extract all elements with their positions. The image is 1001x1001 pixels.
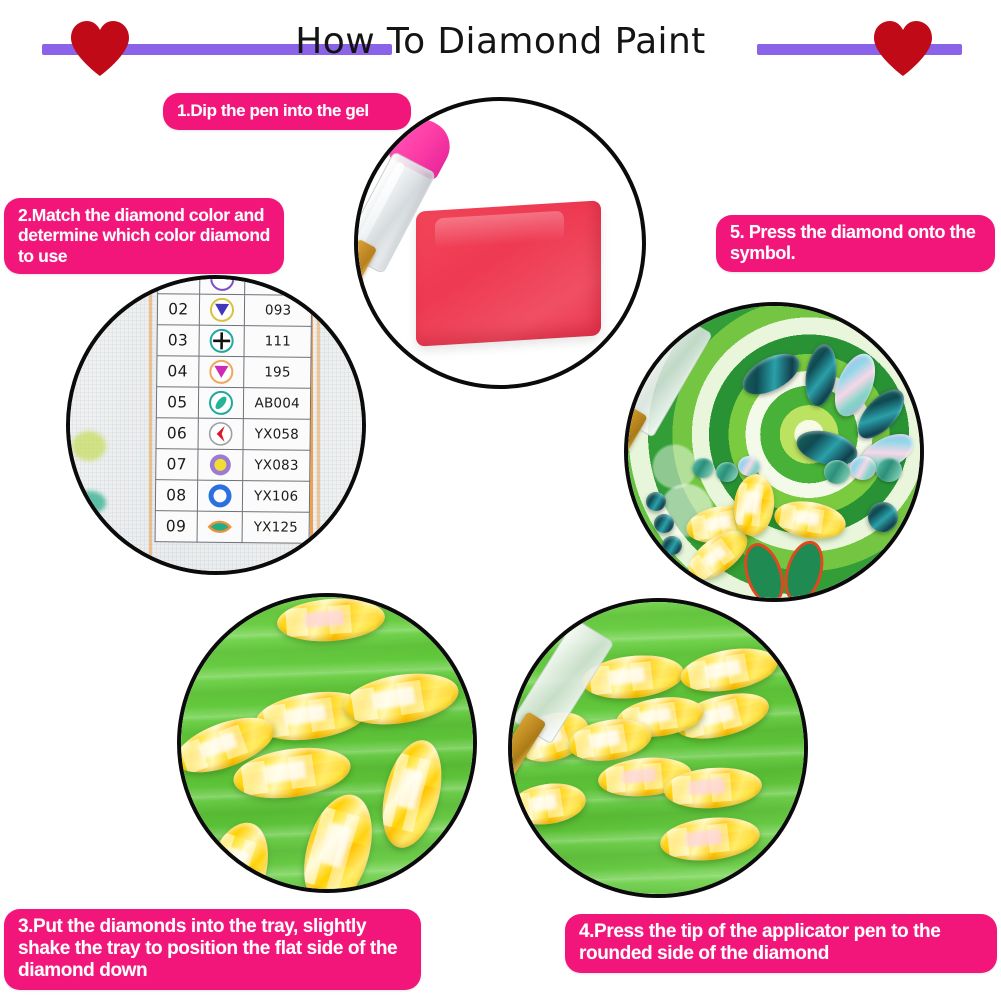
cell-symbol-leaf-green-orange: [197, 511, 243, 542]
table-row: 08 YX106: [155, 480, 309, 513]
photo-diamonds-in-tray: [181, 597, 473, 889]
cell-symbol-triangle-blue: [199, 294, 245, 325]
cell-no: 05: [156, 387, 198, 418]
cell-code: YX058: [243, 419, 310, 451]
pen-tip-gold: [628, 406, 648, 474]
rhinestone-teal: [824, 460, 850, 484]
cell-symbol-double-dot-circle-purple: [199, 279, 245, 295]
photo-circle-step-1: [354, 97, 646, 389]
cell-no: 08: [155, 480, 197, 511]
rhinestone-dark: [662, 536, 682, 555]
cell-no: [158, 279, 200, 294]
cell-no: 09: [155, 511, 197, 542]
table-row: 02 093: [157, 294, 311, 327]
cell-code: 020: [245, 279, 312, 295]
cell-symbol-ring-blue: [197, 480, 243, 511]
cell-code: 093: [245, 295, 312, 327]
photo-circle-step-4: [508, 598, 808, 898]
rhinestone-teal: [716, 462, 738, 482]
cell-no: 02: [157, 294, 199, 325]
canvas-print-blob-green: [72, 431, 106, 461]
cell-no: 06: [156, 418, 198, 449]
step-label-1: 1.Dip the pen into the gel: [163, 93, 411, 130]
photo-circle-step-3: [177, 593, 477, 893]
infographic-canvas: How To Diamond Paint: [0, 0, 1001, 1001]
table-row: 09 YX125: [155, 511, 309, 544]
cell-symbol-plus-circle-teal: [199, 325, 245, 356]
page-title: How To Diamond Paint: [0, 20, 1001, 64]
canvas-print-blob-teal: [76, 491, 106, 513]
cell-code: YX125: [242, 512, 309, 544]
photo-circle-step-5: [624, 302, 924, 602]
cell-code: YX083: [243, 450, 310, 482]
pink-gel-pad: [416, 200, 601, 346]
cell-code: AB004: [244, 388, 311, 420]
step-label-5: 5. Press the diamond onto the symbol.: [716, 215, 995, 272]
photo-diamond-on-mandala: [628, 306, 920, 598]
chart-orange-line-right-2: [317, 279, 320, 571]
step-label-4: 4.Press the tip of the applicator pen to…: [565, 914, 997, 973]
rhinestone-ab: [850, 456, 876, 480]
photo-circle-step-2: 020 02 093 03: [66, 275, 366, 575]
rhinestone-teal: [692, 458, 714, 478]
rhinestone-dark: [646, 492, 666, 511]
table-row: 03 111: [157, 325, 311, 358]
color-code-table: 020 02 093 03: [155, 279, 313, 544]
photo-color-code-chart: 020 02 093 03: [70, 279, 362, 571]
table-row: 05 AB004: [156, 387, 310, 420]
step-label-2: 2.Match the diamond color and determine …: [4, 198, 284, 274]
cell-symbol-dot-circle-yellow-purple: [197, 449, 243, 480]
photo-pen-pressing-diamond: [512, 602, 804, 894]
table-row: 020: [158, 279, 312, 295]
cell-symbol-triangle-magenta: [198, 356, 244, 387]
cell-code: 111: [244, 326, 311, 358]
cell-no: 07: [156, 449, 198, 480]
step-label-3: 3.Put the diamonds into the tray, slight…: [4, 909, 421, 990]
rhinestone-teal: [876, 458, 902, 482]
table-row: 06 YX058: [156, 418, 310, 451]
chart-orange-line-left: [149, 279, 152, 571]
rhinestone-ab: [738, 456, 760, 476]
cell-symbol-slash-oval-teal: [198, 387, 244, 418]
cell-no: 04: [157, 356, 199, 387]
cell-symbol-arrow-left-red: [198, 418, 244, 449]
cell-code: YX106: [243, 481, 310, 513]
table-row: 04 195: [157, 356, 311, 389]
rhinestone-dark: [654, 514, 674, 533]
photo-pen-dipped-in-gel: [358, 101, 642, 385]
cell-code: 195: [244, 357, 311, 389]
cell-no: 03: [157, 325, 199, 356]
table-row: 07 YX083: [156, 449, 310, 482]
